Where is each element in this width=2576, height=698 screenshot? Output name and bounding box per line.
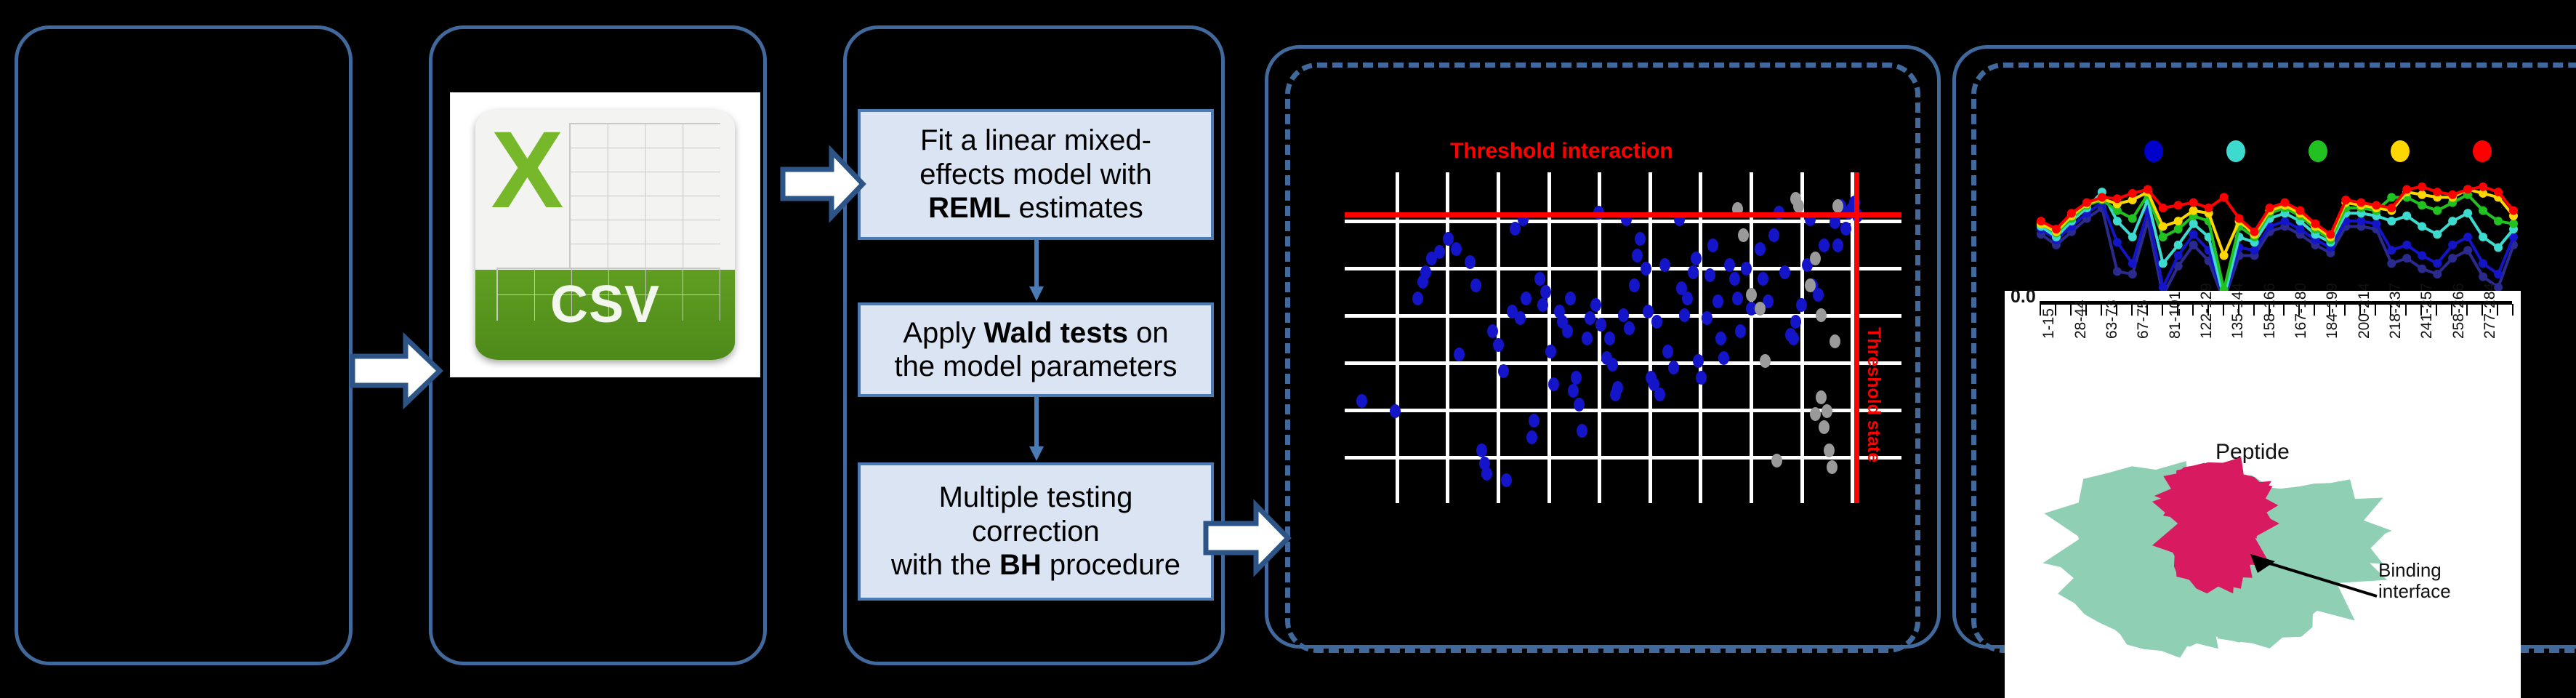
peptide-point-red [2280, 198, 2289, 207]
excel-x-glyph: X [491, 115, 579, 244]
x-axis-tick [2253, 304, 2255, 316]
peptide-point-red [2402, 185, 2411, 193]
scatter-point-significant [1682, 292, 1693, 305]
scatter-point-significant [1691, 252, 1702, 265]
peptide-point-red [2356, 198, 2365, 207]
peptide-point-green [2418, 201, 2426, 209]
scatter-point-significant [1537, 298, 1548, 312]
peptide-tick-label: 167-180 [2293, 283, 2310, 339]
peptide-point-blue [2494, 270, 2503, 278]
peptide-point-red [2433, 188, 2442, 196]
scatter-gridline-v [1547, 172, 1551, 503]
scatter-point-significant [1534, 272, 1545, 286]
step3-line2: correction [972, 516, 1100, 547]
scatter-point-significant [1590, 298, 1601, 312]
scatter-point-non-significant [1832, 199, 1843, 213]
scatter-point-significant [1568, 384, 1579, 398]
scatter-point-significant [1540, 285, 1551, 299]
arrow-into-data [349, 331, 443, 411]
csv-text-label: CSV [475, 275, 735, 334]
scatter-point-significant [1732, 292, 1743, 305]
peptide-tick-label: 258-266 [2450, 283, 2468, 339]
scatter-point-significant [1840, 222, 1851, 236]
peptide-point-red [2189, 198, 2198, 207]
csv-grid-top [569, 123, 720, 268]
scatter-point-significant [1755, 242, 1766, 256]
peptide-point-cyan [2402, 212, 2411, 220]
scatter-point-non-significant [1793, 199, 1804, 213]
peptide-point-red [2037, 217, 2045, 225]
scatter-point-significant [1585, 311, 1595, 325]
peptide-point-red [2082, 198, 2091, 207]
scatter-point-significant [1582, 332, 1593, 345]
scatter-point-significant [1470, 278, 1481, 292]
scatter-point-significant [1420, 265, 1431, 279]
annot-line-1: Binding [2378, 560, 2451, 581]
peptide-point-red [2387, 204, 2396, 212]
arrow-data-to-model [779, 144, 866, 224]
peptide-point-blue [2250, 246, 2259, 254]
peptide-point-blue [2356, 217, 2365, 225]
scatter-point-non-significant [1760, 354, 1771, 368]
peptide-point-red [2463, 185, 2472, 193]
peptide-point-red [2067, 209, 2076, 217]
peptide-point-red [2418, 182, 2426, 191]
peptide-tick-label: 81-101 [2167, 292, 2184, 339]
peptide-point-cyan [2448, 217, 2457, 225]
scatter-point-non-significant [1830, 334, 1840, 348]
peptide-point-cyan [2463, 209, 2472, 217]
peptide-point-cyan [2494, 244, 2503, 252]
step3-bold: BH [999, 549, 1042, 581]
scatter-point-significant [1632, 249, 1643, 262]
peptide-point-red [2326, 230, 2335, 238]
threshold-state-label: Threshold state [1863, 327, 1884, 462]
peptide-point-blue [2189, 230, 2198, 238]
arrow-model-to-results [1202, 498, 1293, 578]
peptide-point-navy [2113, 267, 2122, 276]
peptide-point-yellow [2174, 217, 2183, 225]
peptide-point-red [2250, 228, 2259, 236]
scatter-gridline-v [1396, 172, 1399, 503]
scatter-point-significant [1688, 265, 1699, 279]
scatter-point-significant [1545, 345, 1556, 358]
peptide-tick-label: 200-214 [2356, 283, 2373, 339]
peptide-point-cyan [2128, 233, 2137, 241]
scatter-point-significant [1562, 324, 1573, 338]
scatter-point-significant [1679, 308, 1690, 322]
peptide-point-blue [2463, 233, 2472, 241]
peptide-tick-label: 241-257 [2418, 283, 2436, 339]
peptide-point-cyan [2189, 220, 2198, 228]
peptide-point-blue [2280, 217, 2289, 225]
scatter-point-non-significant [1822, 404, 1832, 418]
scatter-point-significant [1571, 371, 1582, 385]
x-axis-tick [2192, 304, 2194, 316]
peptide-point-blue [2402, 241, 2411, 249]
peptide-point-red [2479, 182, 2487, 191]
scatter-point-significant [1788, 332, 1799, 345]
scatter-point-significant [1501, 473, 1512, 487]
peptide-point-blue [2387, 246, 2396, 254]
peptide-point-cyan [2433, 230, 2442, 238]
peptide-tick-label: 277-284 [2482, 283, 2499, 339]
x-axis-tick [2405, 304, 2407, 316]
x-axis-tick [2512, 304, 2513, 316]
scatter-point-significant [1668, 361, 1679, 374]
scatter-point-significant [1451, 242, 1462, 256]
scatter-gridline-h [1345, 361, 1901, 365]
peptide-point-blue [2433, 259, 2442, 268]
scatter-gridline-v [1699, 172, 1702, 503]
scatter-point-non-significant [1755, 302, 1766, 316]
scatter-point-non-significant [1746, 288, 1757, 302]
peptide-point-red [2341, 196, 2350, 204]
peptide-tick-label: 184-199 [2324, 283, 2341, 339]
scatter-point-significant [1702, 311, 1712, 325]
scatter-point-significant [1412, 292, 1423, 305]
scatter-gridline-v [1598, 172, 1601, 503]
scatter-point-significant [1832, 238, 1843, 252]
scatter-point-significant [1574, 398, 1585, 412]
scatter-point-significant [1641, 262, 1651, 276]
step2-line1-post: on [1128, 317, 1169, 349]
scatter-point-significant [1604, 332, 1615, 345]
scatter-point-non-significant [1816, 390, 1827, 404]
peptide-point-green [2128, 214, 2137, 223]
peptide-point-yellow [2189, 206, 2198, 215]
scatter-point-significant [1481, 467, 1492, 481]
threshold-interaction-line [1345, 212, 1901, 217]
scatter-point-significant [1595, 318, 1606, 332]
scatter-point-significant [1548, 377, 1559, 391]
scatter-point-significant [1577, 424, 1587, 438]
scatter-gridline-v [1750, 172, 1753, 503]
step1-bold: REML [928, 192, 1010, 224]
peptide-point-green [2159, 233, 2168, 241]
scatter-point-significant [1654, 388, 1665, 401]
x-axis-tick [2375, 304, 2376, 316]
peptide-point-cyan [2387, 217, 2396, 225]
scatter-point-significant [1356, 394, 1367, 408]
scatter-gridline-v [1446, 172, 1449, 503]
peptide-point-green [2494, 217, 2503, 225]
peptide-point-cyan [2418, 222, 2426, 230]
scatter-point-significant [1707, 238, 1718, 252]
peptide-tick-label: 122-129 [2198, 283, 2215, 339]
peptide-point-red [2235, 214, 2244, 223]
scatter-point-significant [1718, 351, 1729, 365]
peptide-point-red [2113, 194, 2122, 203]
scatter-point-significant [1612, 381, 1623, 395]
peptide-point-red [2205, 204, 2213, 212]
peptide-point-red [2144, 185, 2152, 193]
peptide-point-green [2479, 206, 2487, 215]
scatter-point-significant [1607, 358, 1618, 372]
peptide-point-red [2448, 190, 2457, 199]
scatter-point-significant [1493, 338, 1504, 352]
peptide-tick-label: 158-166 [2261, 283, 2279, 339]
peptide-point-navy [2448, 254, 2457, 262]
peptide-point-red [2266, 204, 2274, 212]
step3-line3-post: procedure [1042, 549, 1180, 581]
step2-bold: Wald tests [984, 317, 1129, 349]
peptide-point-yellow [2159, 222, 2168, 230]
peptide-point-red [2052, 225, 2061, 233]
flow-diagram-canvas: X CSV Fit a linear mixed- effects model … [0, 0, 2576, 687]
scatter-point-non-significant [1827, 460, 1838, 474]
peptide-point-blue [2418, 251, 2426, 260]
peptide-point-yellow [2220, 251, 2229, 260]
peptide-point-blue [2372, 220, 2380, 228]
scatter-point-significant [1390, 404, 1401, 418]
scatter-point-non-significant [1810, 252, 1821, 265]
scatter-point-significant [1768, 228, 1779, 242]
scatter-point-significant [1830, 215, 1840, 229]
step-fit-model-box[interactable]: Fit a linear mixed- effects model with R… [858, 109, 1214, 240]
scatter-point-significant [1712, 294, 1723, 308]
peptide-point-navy [2479, 273, 2487, 281]
scatter-point-significant [1696, 371, 1707, 385]
step-multiple-testing-box[interactable]: Multiple testing correction with the BH … [858, 462, 1214, 601]
input-panel [15, 25, 353, 665]
peptide-tick-label: 67-75 [2135, 300, 2152, 339]
peptide-point-green [2387, 193, 2396, 201]
scatter-chart-title: Threshold interaction [1450, 139, 1673, 164]
peptide-point-navy [2189, 241, 2198, 249]
peptide-point-yellow [2418, 190, 2426, 199]
annot-line-2: interface [2378, 581, 2451, 602]
peptide-point-red [2098, 193, 2106, 201]
step2-line2: the model parameters [894, 350, 1177, 382]
scatter-point-significant [1526, 430, 1537, 444]
scatter-point-significant [1521, 292, 1531, 305]
scatter-gridline-v [1649, 172, 1652, 503]
peptide-point-blue [2128, 259, 2137, 268]
scatter-point-significant [1476, 444, 1487, 457]
x-axis-tick [2162, 304, 2163, 316]
scatter-point-significant [1565, 292, 1576, 305]
scatter-point-significant [1715, 332, 1726, 345]
peptide-point-navy [2433, 270, 2442, 278]
peptide-point-navy [2128, 270, 2137, 278]
scatter-point-non-significant [1805, 278, 1816, 292]
peptide-point-cyan [2174, 241, 2183, 249]
peptide-point-navy [2418, 265, 2426, 273]
peptide-tick-label: 1-15 [2040, 308, 2058, 339]
x-axis-tick [2101, 304, 2102, 316]
peptide-point-navy [2402, 254, 2411, 262]
step3-line1: Multiple testing [939, 481, 1133, 513]
scatter-point-significant [1819, 238, 1830, 252]
peptide-point-green [2174, 225, 2183, 233]
scatter-point-significant [1618, 308, 1629, 322]
scatter-point-significant [1651, 315, 1662, 329]
x-axis-tick [2436, 304, 2437, 316]
scatter-gridline-h [1345, 456, 1901, 460]
scatter-point-significant [1434, 245, 1445, 259]
scatter-point-significant [1779, 265, 1790, 279]
peptide-point-red [2159, 204, 2168, 212]
step-wald-tests-box[interactable]: Apply Wald tests on the model parameters [858, 302, 1214, 397]
scatter-point-significant [1704, 268, 1715, 282]
peptide-point-blue [2479, 259, 2487, 268]
scatter-point-significant [1724, 258, 1735, 272]
scatter-point-significant [1515, 311, 1526, 325]
scatter-point-significant [1624, 321, 1635, 335]
scatter-point-significant [1796, 298, 1807, 312]
x-axis-tick [2131, 304, 2133, 316]
peptide-tick-label: 63-73 [2104, 300, 2121, 339]
step3-line3-pre: with the [891, 549, 999, 581]
peptide-point-blue [2113, 238, 2122, 246]
x-axis-tick [2344, 304, 2346, 316]
peptide-point-red [2494, 188, 2503, 196]
binding-interface-annotation: Binding interface [2378, 560, 2451, 602]
x-axis-tick [2070, 304, 2072, 316]
protein-surface-figure [2035, 429, 2471, 669]
scatter-plot-area [1345, 172, 1901, 503]
peptide-point-red [2220, 193, 2229, 201]
peptide-point-cyan [2479, 233, 2487, 241]
x-axis-tick [2223, 304, 2224, 316]
peptide-point-green [2509, 220, 2518, 228]
x-axis-tick [2283, 304, 2285, 316]
protein-surface-svg [2035, 429, 2471, 669]
scatter-point-significant [1498, 364, 1509, 378]
csv-file-icon: X CSV [451, 93, 760, 377]
peptide-point-blue [2448, 241, 2457, 249]
scatter-point-non-significant [1816, 308, 1827, 322]
peptide-point-navy [2463, 246, 2472, 254]
scatter-point-significant [1662, 345, 1673, 358]
peptide-point-blue [2174, 251, 2183, 260]
peptide-point-red [2372, 201, 2380, 209]
scatter-point-non-significant [1810, 407, 1821, 421]
threshold-scatter-chart: Threshold interaction Threshold state [1345, 135, 1919, 556]
csv-card: X CSV [475, 110, 735, 359]
scatter-gridline-v [1800, 172, 1804, 503]
peptide-point-cyan [2113, 217, 2122, 225]
scatter-point-significant [1758, 272, 1768, 286]
peptide-point-red [2295, 206, 2304, 215]
peptide-point-blue [2295, 225, 2304, 233]
scatter-point-non-significant [1738, 228, 1749, 242]
scatter-point-significant [1629, 278, 1640, 292]
peptide-point-red [2128, 189, 2137, 198]
peptide-point-navy [2387, 259, 2396, 268]
connector-wald-to-bh [1028, 397, 1045, 462]
scatter-point-non-significant [1819, 420, 1830, 434]
scatter-point-significant [1741, 262, 1752, 276]
scatter-point-significant [1813, 288, 1824, 302]
peptide-point-green [2433, 206, 2442, 215]
scatter-point-significant [1729, 272, 1740, 286]
scatter-point-non-significant [1771, 454, 1782, 468]
scatter-point-significant [1454, 348, 1465, 361]
peptide-tick-label: 28-44 [2072, 300, 2090, 339]
peptide-point-red [2174, 201, 2183, 209]
scatter-point-significant [1529, 414, 1539, 428]
step1-line3-post: estimates [1011, 192, 1143, 224]
x-axis-tick [2314, 304, 2315, 316]
peptide-point-cyan [2159, 259, 2168, 268]
step1-line2: effects model with [919, 159, 1151, 190]
peptide-point-red [2311, 220, 2319, 228]
peptide-tick-label: 135-144 [2229, 283, 2247, 339]
connector-fit-to-wald [1028, 240, 1045, 302]
step2-line1-pre: Apply [903, 317, 983, 349]
step1-line1: Fit a linear mixed- [920, 124, 1151, 156]
threshold-state-line [1854, 172, 1859, 503]
peptide-tick-label: 218-237 [2387, 283, 2404, 339]
scatter-point-significant [1635, 232, 1646, 246]
scatter-point-significant [1735, 324, 1746, 338]
peptide-point-red [2509, 206, 2518, 215]
